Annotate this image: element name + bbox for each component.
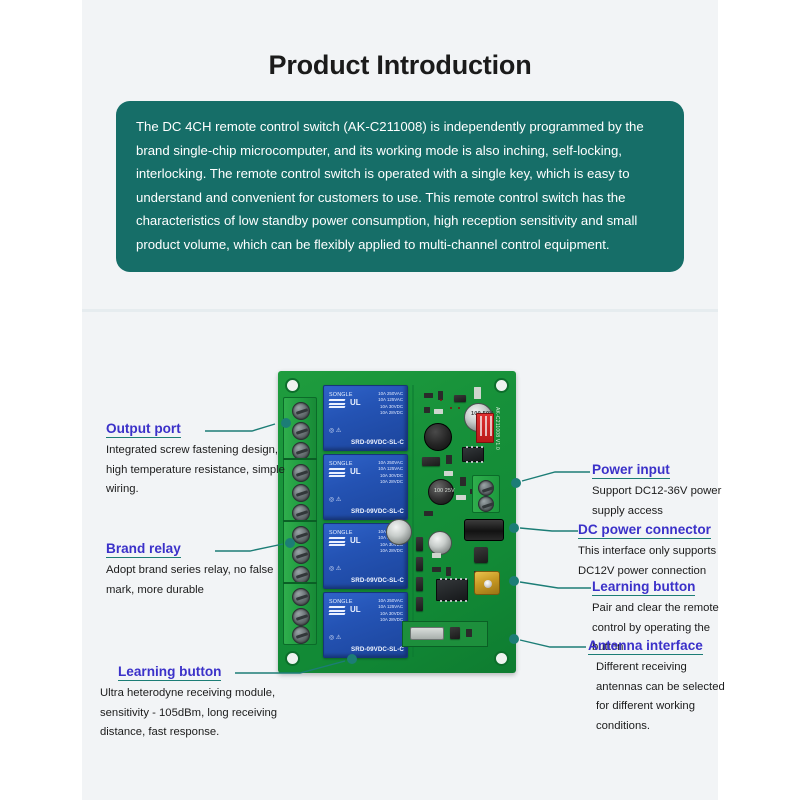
callout-learning-button-left: Learning button Ultra heterodyne receivi… xyxy=(100,663,300,743)
pcb-substrate: SONGLE UL 10A 250VAC 10A 125VAC 10A 30VD… xyxy=(278,371,516,673)
trimmer-capacitor xyxy=(428,531,452,555)
relay-model: SRD-09VDC-SL-C xyxy=(324,508,404,515)
ul-mark: UL xyxy=(350,398,361,407)
electrolytic-capacitor: 100 25V xyxy=(428,479,454,505)
capacitor-label: 100 25V xyxy=(434,488,455,494)
intro-description-box: The DC 4CH remote control switch (AK-C21… xyxy=(116,101,684,272)
callout-title: Brand relay xyxy=(106,541,181,558)
certification-symbols: ◎ ⚠ xyxy=(329,565,341,572)
terminal-screw xyxy=(292,588,310,606)
terminal-screw xyxy=(292,526,310,544)
terminal-divider xyxy=(283,458,317,460)
smd-component xyxy=(474,387,481,399)
sma-antenna-connector xyxy=(474,571,500,595)
terminal-screw xyxy=(292,422,310,440)
songle-logo-icon xyxy=(329,468,345,479)
relay-ratings: 10A 250VAC 10A 125VAC 10A 30VDC 10A 28VD… xyxy=(378,598,403,624)
crystal-oscillator xyxy=(410,627,444,640)
relay-ratings: 10A 250VAC 10A 125VAC 10A 30VDC 10A 28VD… xyxy=(378,460,403,486)
section-divider xyxy=(82,309,718,312)
certification-symbols: ◎ ⚠ xyxy=(329,427,341,434)
sma-center-pin xyxy=(484,580,492,588)
board-silkscreen-model: AK-C211008 V1.0 xyxy=(494,407,500,450)
terminal-screw xyxy=(478,480,494,496)
relay-model: SRD-09VDC-SL-C xyxy=(324,439,404,446)
ul-mark: UL xyxy=(350,536,361,545)
dc-barrel-jack xyxy=(464,519,504,541)
relay-module: SONGLE UL 10A 250VAC 10A 125VAC 10A 30VD… xyxy=(323,385,408,451)
smd-component xyxy=(432,553,441,558)
terminal-divider xyxy=(283,582,317,584)
transistor xyxy=(416,597,423,611)
smd-diode xyxy=(454,395,466,402)
page-title: Product Introduction xyxy=(82,50,718,81)
ul-mark: UL xyxy=(350,467,361,476)
transistor xyxy=(416,557,423,571)
transistor xyxy=(416,537,423,551)
terminal-screw xyxy=(292,608,310,626)
relay-module: SONGLE UL 10A 250VAC 10A 125VAC 10A 30VD… xyxy=(323,454,408,520)
callout-body: Ultra heterodyne receiving module, sensi… xyxy=(100,684,300,743)
callout-title: DC power connector xyxy=(578,522,711,539)
smd-resistor xyxy=(424,393,433,398)
smd-component xyxy=(434,409,443,414)
relay-ratings: 10A 250VAC 10A 125VAC 10A 30VDC 10A 28VD… xyxy=(378,391,403,417)
callout-output-port: Output port Integrated screw fastening d… xyxy=(106,420,286,500)
smd-resistor xyxy=(466,629,472,637)
smd-resistor xyxy=(446,455,452,464)
smd-resistor xyxy=(432,567,441,572)
smd-component xyxy=(456,495,466,500)
relay-model: SRD-09VDC-SL-C xyxy=(324,577,404,584)
dip-switch-placeholder xyxy=(440,399,442,401)
callout-title: Power input xyxy=(592,462,670,479)
smd-resistor xyxy=(460,477,466,486)
callout-dc-power-connector: DC power connector This interface only s… xyxy=(578,521,723,581)
regulator-ic xyxy=(462,447,484,462)
smd-component xyxy=(450,627,460,639)
red-dip-switch xyxy=(476,413,494,443)
smd-resistor xyxy=(446,567,451,576)
callout-body: Support DC12-36V power supply access xyxy=(592,482,727,521)
dip-switch-alt2 xyxy=(458,407,460,409)
relay-module: SONGLE UL 10A 250VAC 10A 125VAC 10A 30VD… xyxy=(323,592,408,658)
callout-body: Adopt brand series relay, no false mark,… xyxy=(106,561,281,600)
terminal-screw xyxy=(292,402,310,420)
smd-component xyxy=(444,471,453,476)
songle-logo-icon xyxy=(329,399,345,410)
mounting-hole xyxy=(285,378,300,393)
terminal-screw xyxy=(292,546,310,564)
smd-resistor xyxy=(424,407,430,413)
callout-brand-relay: Brand relay Adopt brand series relay, no… xyxy=(106,540,281,600)
ul-mark: UL xyxy=(350,605,361,614)
product-introduction-page: Product Introduction The DC 4CH remote c… xyxy=(0,0,800,800)
certification-symbols: ◎ ⚠ xyxy=(329,496,341,503)
microcontroller-ic xyxy=(436,579,468,601)
terminal-divider xyxy=(283,520,317,522)
certification-symbols: ◎ ⚠ xyxy=(329,634,341,641)
callout-title: Learning button xyxy=(118,664,221,681)
smd-resistor xyxy=(424,511,433,516)
tactile-button xyxy=(474,547,488,563)
trimmer-capacitor xyxy=(386,519,412,545)
terminal-screw xyxy=(292,464,310,482)
mounting-hole xyxy=(494,378,509,393)
dip-switch-alt xyxy=(450,407,452,409)
terminal-screw xyxy=(292,484,310,502)
terminal-screw xyxy=(478,496,494,512)
relay-model: SRD-09VDC-SL-C xyxy=(324,646,404,653)
mounting-hole xyxy=(494,651,509,666)
callout-title: Antenna interface xyxy=(588,638,703,655)
callout-title: Learning button xyxy=(592,579,695,596)
songle-logo-icon xyxy=(329,606,345,617)
pcb-board-image: SONGLE UL 10A 250VAC 10A 125VAC 10A 30VD… xyxy=(278,371,516,673)
smd-component xyxy=(422,457,440,466)
songle-logo-icon xyxy=(329,537,345,548)
power-inductor xyxy=(424,423,452,451)
callout-power-input: Power input Support DC12-36V power suppl… xyxy=(592,461,727,521)
transistor xyxy=(416,577,423,591)
callout-body: Different receiving antennas can be sele… xyxy=(596,658,728,736)
terminal-screw xyxy=(292,626,310,644)
pcb-trace xyxy=(412,385,414,657)
callout-title: Output port xyxy=(106,421,181,438)
dc-power-terminal xyxy=(472,475,500,513)
callout-body: This interface only supports DC12V power… xyxy=(578,542,723,581)
callout-antenna-interface: Antenna interface Different receiving an… xyxy=(588,637,728,736)
callout-body: Integrated screw fastening design, high … xyxy=(106,441,286,500)
